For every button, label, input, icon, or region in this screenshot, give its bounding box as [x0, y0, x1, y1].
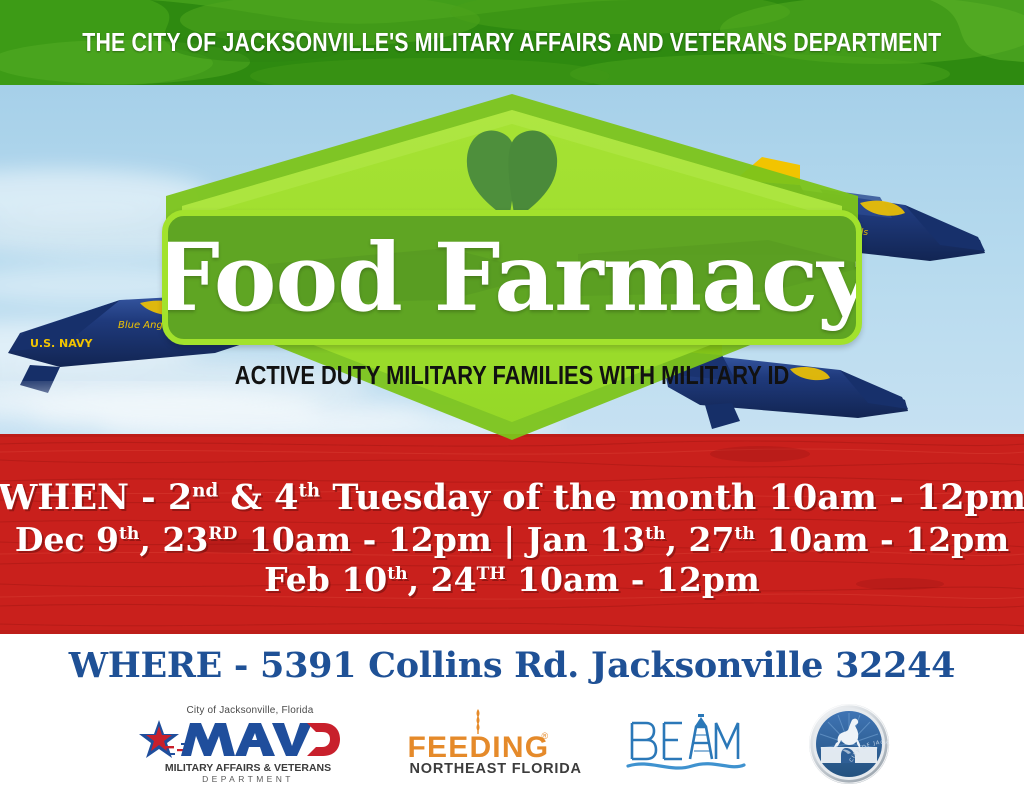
mavd-top-line: City of Jacksonville, Florida [187, 705, 314, 716]
logo-subtitle: ACTIVE DUTY MILITARY FAMILIES WITH MILIT… [235, 360, 789, 391]
header-title: THE CITY OF JACKSONVILLE'S MILITARY AFFA… [0, 0, 1024, 85]
feeding-wordmark: FEEDING [408, 731, 550, 765]
when-line-3: Feb 10th, 24TH 10am - 12pm [264, 561, 760, 599]
logo-slot-city-seal: CITY OF JACKSONVILLE FLORIDA CITY OF JAC… [808, 703, 890, 785]
seal-graphic: CITY OF JACKSONVILLE FLORIDA [808, 703, 890, 785]
mavd-sub-line-2: DEPARTMENT [161, 774, 336, 784]
logo-slot-mavd: City of Jacksonville, Florida [135, 702, 340, 786]
logo-slot-beam: BEAM [624, 713, 746, 775]
lighthouse-icon [690, 714, 712, 759]
city-of-jacksonville-seal: CITY OF JACKSONVILLE FLORIDA CITY OF JAC… [808, 703, 890, 785]
header-title-text: THE CITY OF JACKSONVILLE'S MILITARY AFFA… [82, 27, 941, 58]
feeding-registered-mark: ® [542, 731, 549, 741]
svg-text:U.S. NAVY: U.S. NAVY [30, 337, 94, 350]
feeding-sub-line: NORTHEAST FLORIDA [410, 761, 582, 777]
star-icon [139, 720, 187, 758]
where-text: WHERE - 5391 Collins Rd. Jacksonville 32… [69, 645, 956, 686]
when-line-1: WHEN - 2nd & 4th Tuesday of the month 10… [0, 478, 1024, 519]
when-band: WHEN - 2nd & 4th Tuesday of the month 10… [0, 434, 1024, 634]
logo-title: Food Farmacy [162, 231, 862, 325]
header-bar: THE CITY OF JACKSONVILLE'S MILITARY AFFA… [0, 0, 1024, 85]
feeding-logo: FEEDING ® NORTHEAST FLORIDA [402, 711, 562, 777]
flyer-root: THE CITY OF JACKSONVILLE'S MILITARY AFFA… [0, 0, 1024, 791]
beam-wordmark-text: BEAM [624, 780, 625, 781]
food-farmacy-logo: Food Farmacy ACTIVE DUTY MILITARY FAMILI… [152, 88, 872, 448]
when-text-block: WHEN - 2nd & 4th Tuesday of the month 10… [0, 434, 1024, 634]
partner-logo-strip: City of Jacksonville, Florida [0, 697, 1024, 791]
where-band: WHERE - 5391 Collins Rd. Jacksonville 32… [0, 634, 1024, 697]
mavd-logo: City of Jacksonville, Florida [135, 702, 340, 786]
beam-logo: BEAM [624, 713, 746, 775]
mavd-sub-line-1: MILITARY AFFAIRS & VETERANS [161, 762, 336, 774]
mavd-wordmark [135, 716, 340, 762]
beam-wordmark [624, 713, 746, 775]
wave-icon [628, 764, 744, 768]
title-plate: Food Farmacy [162, 210, 862, 345]
logo-subtitle-wrap: ACTIVE DUTY MILITARY FAMILIES WITH MILIT… [152, 360, 872, 391]
logo-slot-feeding: FEEDING ® NORTHEAST FLORIDA [402, 711, 562, 777]
when-line-2: Dec 9th, 23RD 10am - 12pm | Jan 13th, 27… [15, 521, 1009, 559]
